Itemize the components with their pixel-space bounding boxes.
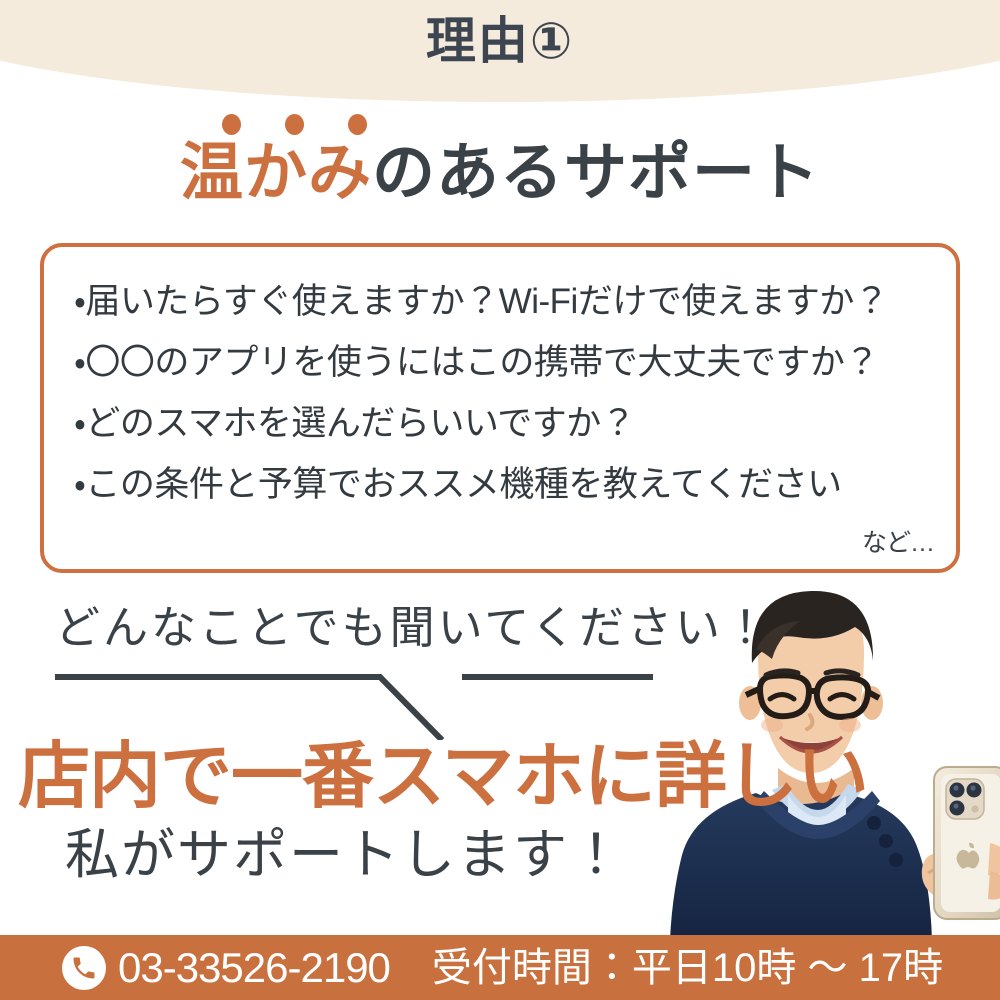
list-item: ・この条件と予算でおススメ機種を教えてください [74, 454, 934, 515]
phone-number[interactable]: 03-33526-2190 [118, 947, 390, 989]
page-title: 温かみのあるサポート [0, 140, 1000, 206]
headline-rest: のあるサポート [372, 138, 820, 208]
phone-icon[interactable] [62, 946, 106, 990]
etc-label: など… [862, 523, 934, 559]
list-item: ・届いたらすぐ使えますか？Wi-Fiだけで使えますか？ [74, 271, 934, 332]
question-list: ・届いたらすぐ使えますか？Wi-Fiだけで使えますか？ ・〇〇のアプリを使うには… [74, 271, 934, 515]
sub-claim-text: 私がサポートします！ [0, 826, 690, 885]
question-box: ・届いたらすぐ使えますか？Wi-Fiだけで使えますか？ ・〇〇のアプリを使うには… [40, 243, 960, 573]
decorative-dot-icon [348, 114, 367, 135]
speech-tail-divider-icon [50, 665, 670, 740]
promo-page: 理由① 温かみのあるサポート ・届いたらすぐ使えますか？Wi-Fiだけで使えます… [0, 0, 1000, 1000]
decorative-dot-icon [285, 114, 304, 135]
decorative-dot-icon [222, 114, 241, 135]
headline-dots [222, 114, 402, 136]
banner-title: 理由① [0, 16, 1000, 66]
contact-footer: 03-33526-2190 受付時間：平日10時 〜 17時 [0, 935, 1000, 1000]
headline-accent: 温かみ [180, 138, 372, 208]
business-hours: 受付時間：平日10時 〜 17時 [432, 948, 943, 988]
main-claim-text: 店内で一番スマホに詳しい [18, 738, 868, 817]
list-item: ・どのスマホを選んだらいいですか？ [74, 393, 934, 454]
list-item: ・〇〇のアプリを使うにはこの携帯で大丈夫ですか？ [74, 332, 934, 393]
ask-anything-text: どんなことでも聞いてください！ [55, 605, 771, 650]
